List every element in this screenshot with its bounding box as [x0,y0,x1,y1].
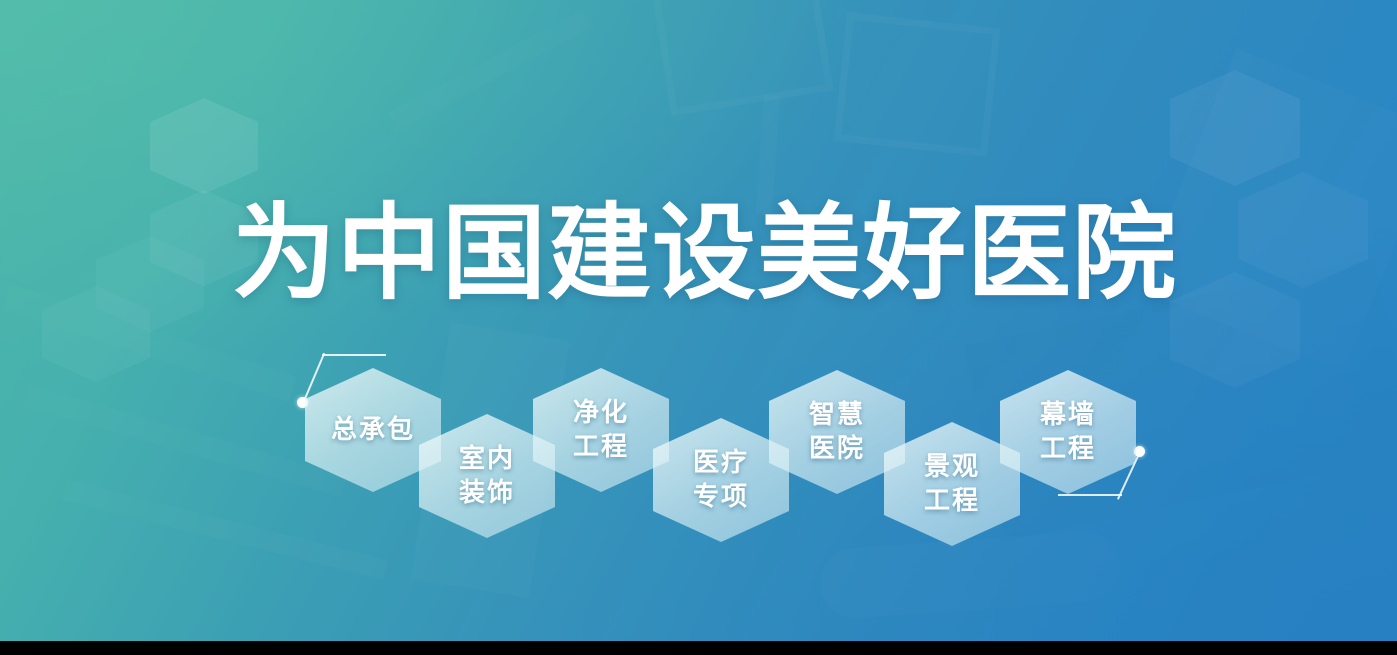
banner-image: 为中国建设美好医院 总承包 室内 装饰 净化 工程 医疗 专项 智慧 医院 [0,0,1397,655]
hexagon-label-line1: 医疗 [693,446,749,480]
hexagon-label-line1: 总承包 [331,413,415,447]
hexagon-label-line1: 景观 [924,450,980,484]
hexagon-label-line2: 工程 [573,430,629,464]
hexagon-label-line2: 装饰 [459,476,515,510]
hexagon-label-line2: 医院 [809,432,865,466]
hexagon-label-line2: 专项 [693,480,749,514]
hexagon-label-line2: 工程 [924,484,980,518]
hexagon-label-line2: 工程 [1040,432,1096,466]
hexagon-label-line1: 净化 [573,396,629,430]
hexagon-label-line1: 幕墙 [1040,398,1096,432]
hexagon-label-line1: 智慧 [809,398,865,432]
service-hexagon-row: 总承包 室内 装饰 净化 工程 医疗 专项 智慧 医院 景观 工程 幕墙 工程 [0,0,1397,641]
hexagon-label-line1: 室内 [459,442,515,476]
bottom-black-bar [0,641,1397,655]
hexagon-medical-specialty[interactable]: 医疗 专项 [653,418,789,542]
hexagon-curtain-wall[interactable]: 幕墙 工程 [1000,370,1136,494]
